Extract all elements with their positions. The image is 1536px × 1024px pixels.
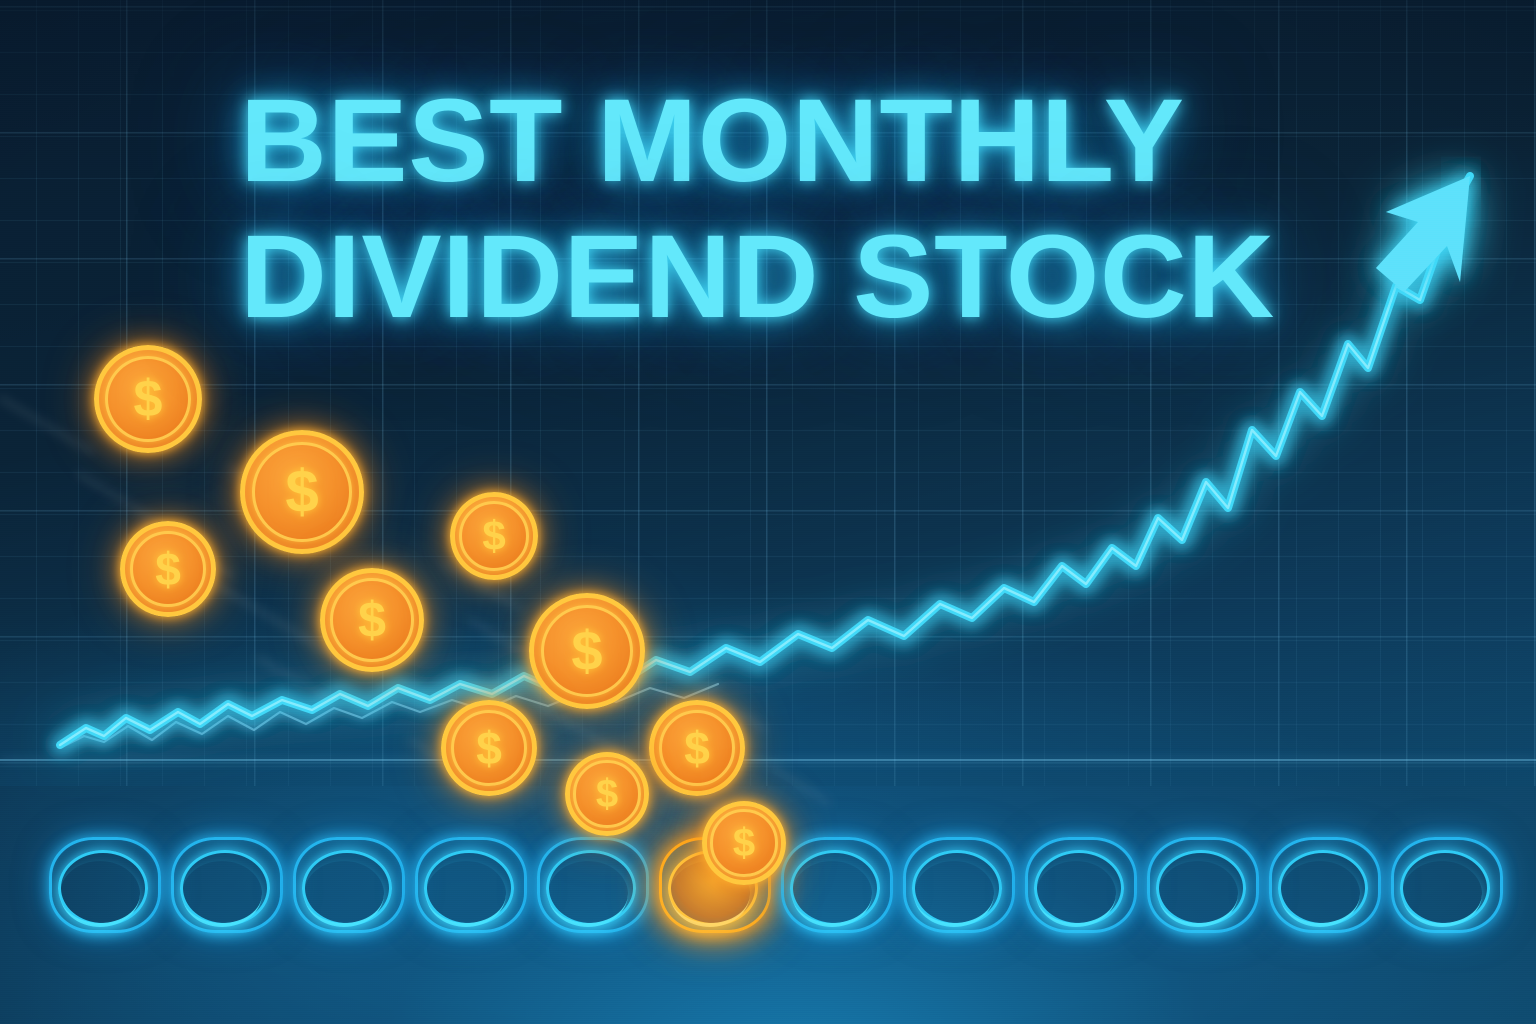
coin-4: $ [450,492,538,580]
coin-2: $ [240,430,364,554]
dollar-sign-icon: $ [529,593,645,709]
coin-9: $ [565,752,649,836]
dollar-sign-icon: $ [94,345,202,453]
dollar-sign-icon: $ [120,521,216,617]
coin-3: $ [120,521,216,617]
dollar-sign-icon: $ [702,801,786,885]
dollar-sign-icon: $ [450,492,538,580]
coin-8: $ [649,700,745,796]
poster-canvas: $$$$$$$$$$ BEST MONTHLY DIVIDEND STOCK [0,0,1536,1024]
coin-5: $ [320,568,424,672]
dollar-sign-icon: $ [320,568,424,672]
falling-coins-group: $$$$$$$$$$ [0,0,1536,1024]
coin-6: $ [529,593,645,709]
dollar-sign-icon: $ [565,752,649,836]
dollar-sign-icon: $ [240,430,364,554]
coin-1: $ [94,345,202,453]
coin-7: $ [441,700,537,796]
dollar-sign-icon: $ [649,700,745,796]
dollar-sign-icon: $ [441,700,537,796]
coin-10: $ [702,801,786,885]
